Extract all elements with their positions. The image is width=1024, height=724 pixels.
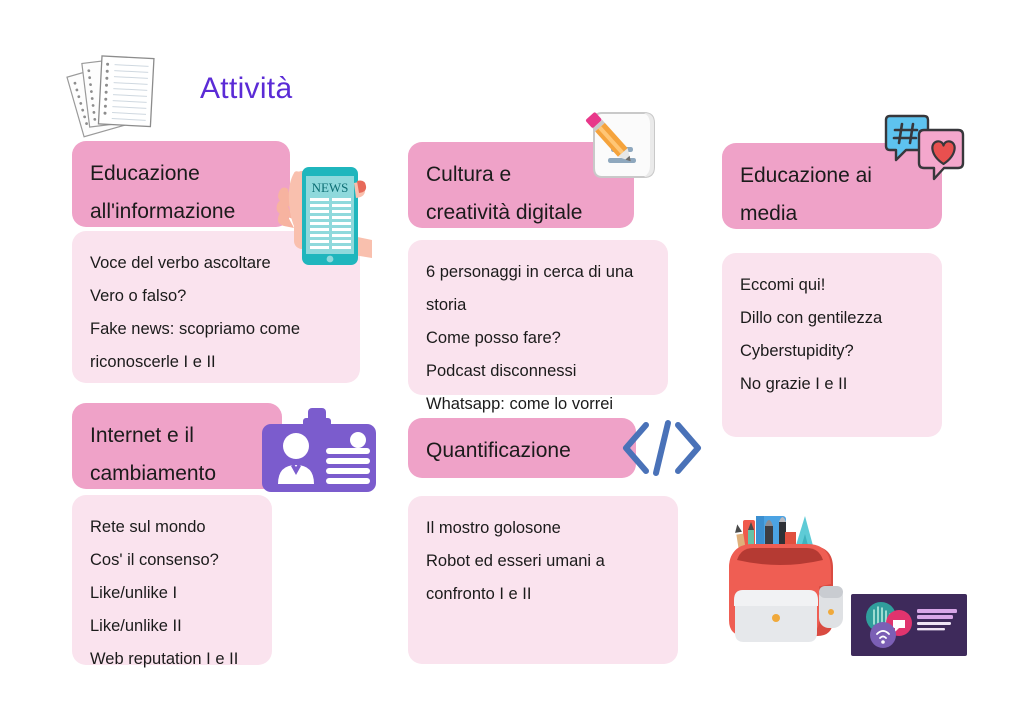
list-item: confronto I e II (426, 578, 660, 611)
list-item: No grazie I e II (740, 368, 924, 401)
list-item: 6 personaggi in cerca di una (426, 256, 650, 289)
list-item: Cyberstupidity? (740, 335, 924, 368)
list-item: Rete sul mondo (90, 511, 254, 544)
slide-canvas: Attività (0, 0, 1024, 724)
id-card-icon (258, 408, 380, 494)
list-item: Like/unlike II (90, 610, 254, 643)
card-header-line: all'informazione (90, 193, 272, 231)
list-item: Cos' il consenso? (90, 544, 254, 577)
list-item: Dillo con gentilezza (740, 302, 924, 335)
card-header-line: Quantificazione (426, 432, 618, 470)
card-body-internet: Rete sul mondo Cos' il consenso? Like/un… (72, 495, 272, 665)
card-header-line: media (740, 195, 924, 233)
card-body-cultura: 6 personaggi in cerca di una storia Come… (408, 240, 668, 395)
card-header-internet: Internet e il cambiamento (72, 403, 282, 489)
list-item: Il mostro golosone (426, 512, 660, 545)
list-item: Robot ed esseri umani a (426, 545, 660, 578)
card-body-quantificazione: Il mostro golosone Robot ed esseri umani… (408, 496, 678, 664)
card-header-quantificazione: Quantificazione (408, 418, 636, 478)
list-item: Come posso fare? (426, 322, 650, 355)
list-item: riconoscerle I e II (90, 346, 342, 379)
pencil-notepad-icon (578, 101, 660, 186)
svg-text:NEWS: NEWS (312, 180, 349, 195)
list-item: Like/unlike I (90, 577, 254, 610)
backpack-icon (707, 498, 853, 650)
card-header-line: Internet e il (90, 417, 264, 455)
list-item: storia (426, 289, 650, 322)
list-item: Fake news: scopriamo come (90, 313, 342, 346)
list-item: Web reputation I e II (90, 643, 254, 676)
list-item: Whatsapp: come lo vorrei (426, 388, 650, 421)
list-item: Vero o falso? (90, 280, 342, 313)
code-brackets-icon (620, 417, 704, 479)
chat-bubbles-icon (884, 112, 966, 190)
generazioni-connesse-logo (851, 594, 967, 656)
page-title: Attività (200, 72, 292, 106)
notebook-pages-icon (66, 45, 176, 140)
card-header-line: creatività digitale (426, 194, 616, 232)
phone-news-icon: NEWS (258, 143, 380, 268)
list-item: Podcast disconnessi (426, 355, 650, 388)
card-header-line: Educazione (90, 155, 272, 193)
list-item: Eccomi qui! (740, 269, 924, 302)
card-body-edu-media: Eccomi qui! Dillo con gentilezza Cyberst… (722, 253, 942, 437)
card-header-line: cambiamento (90, 455, 264, 493)
